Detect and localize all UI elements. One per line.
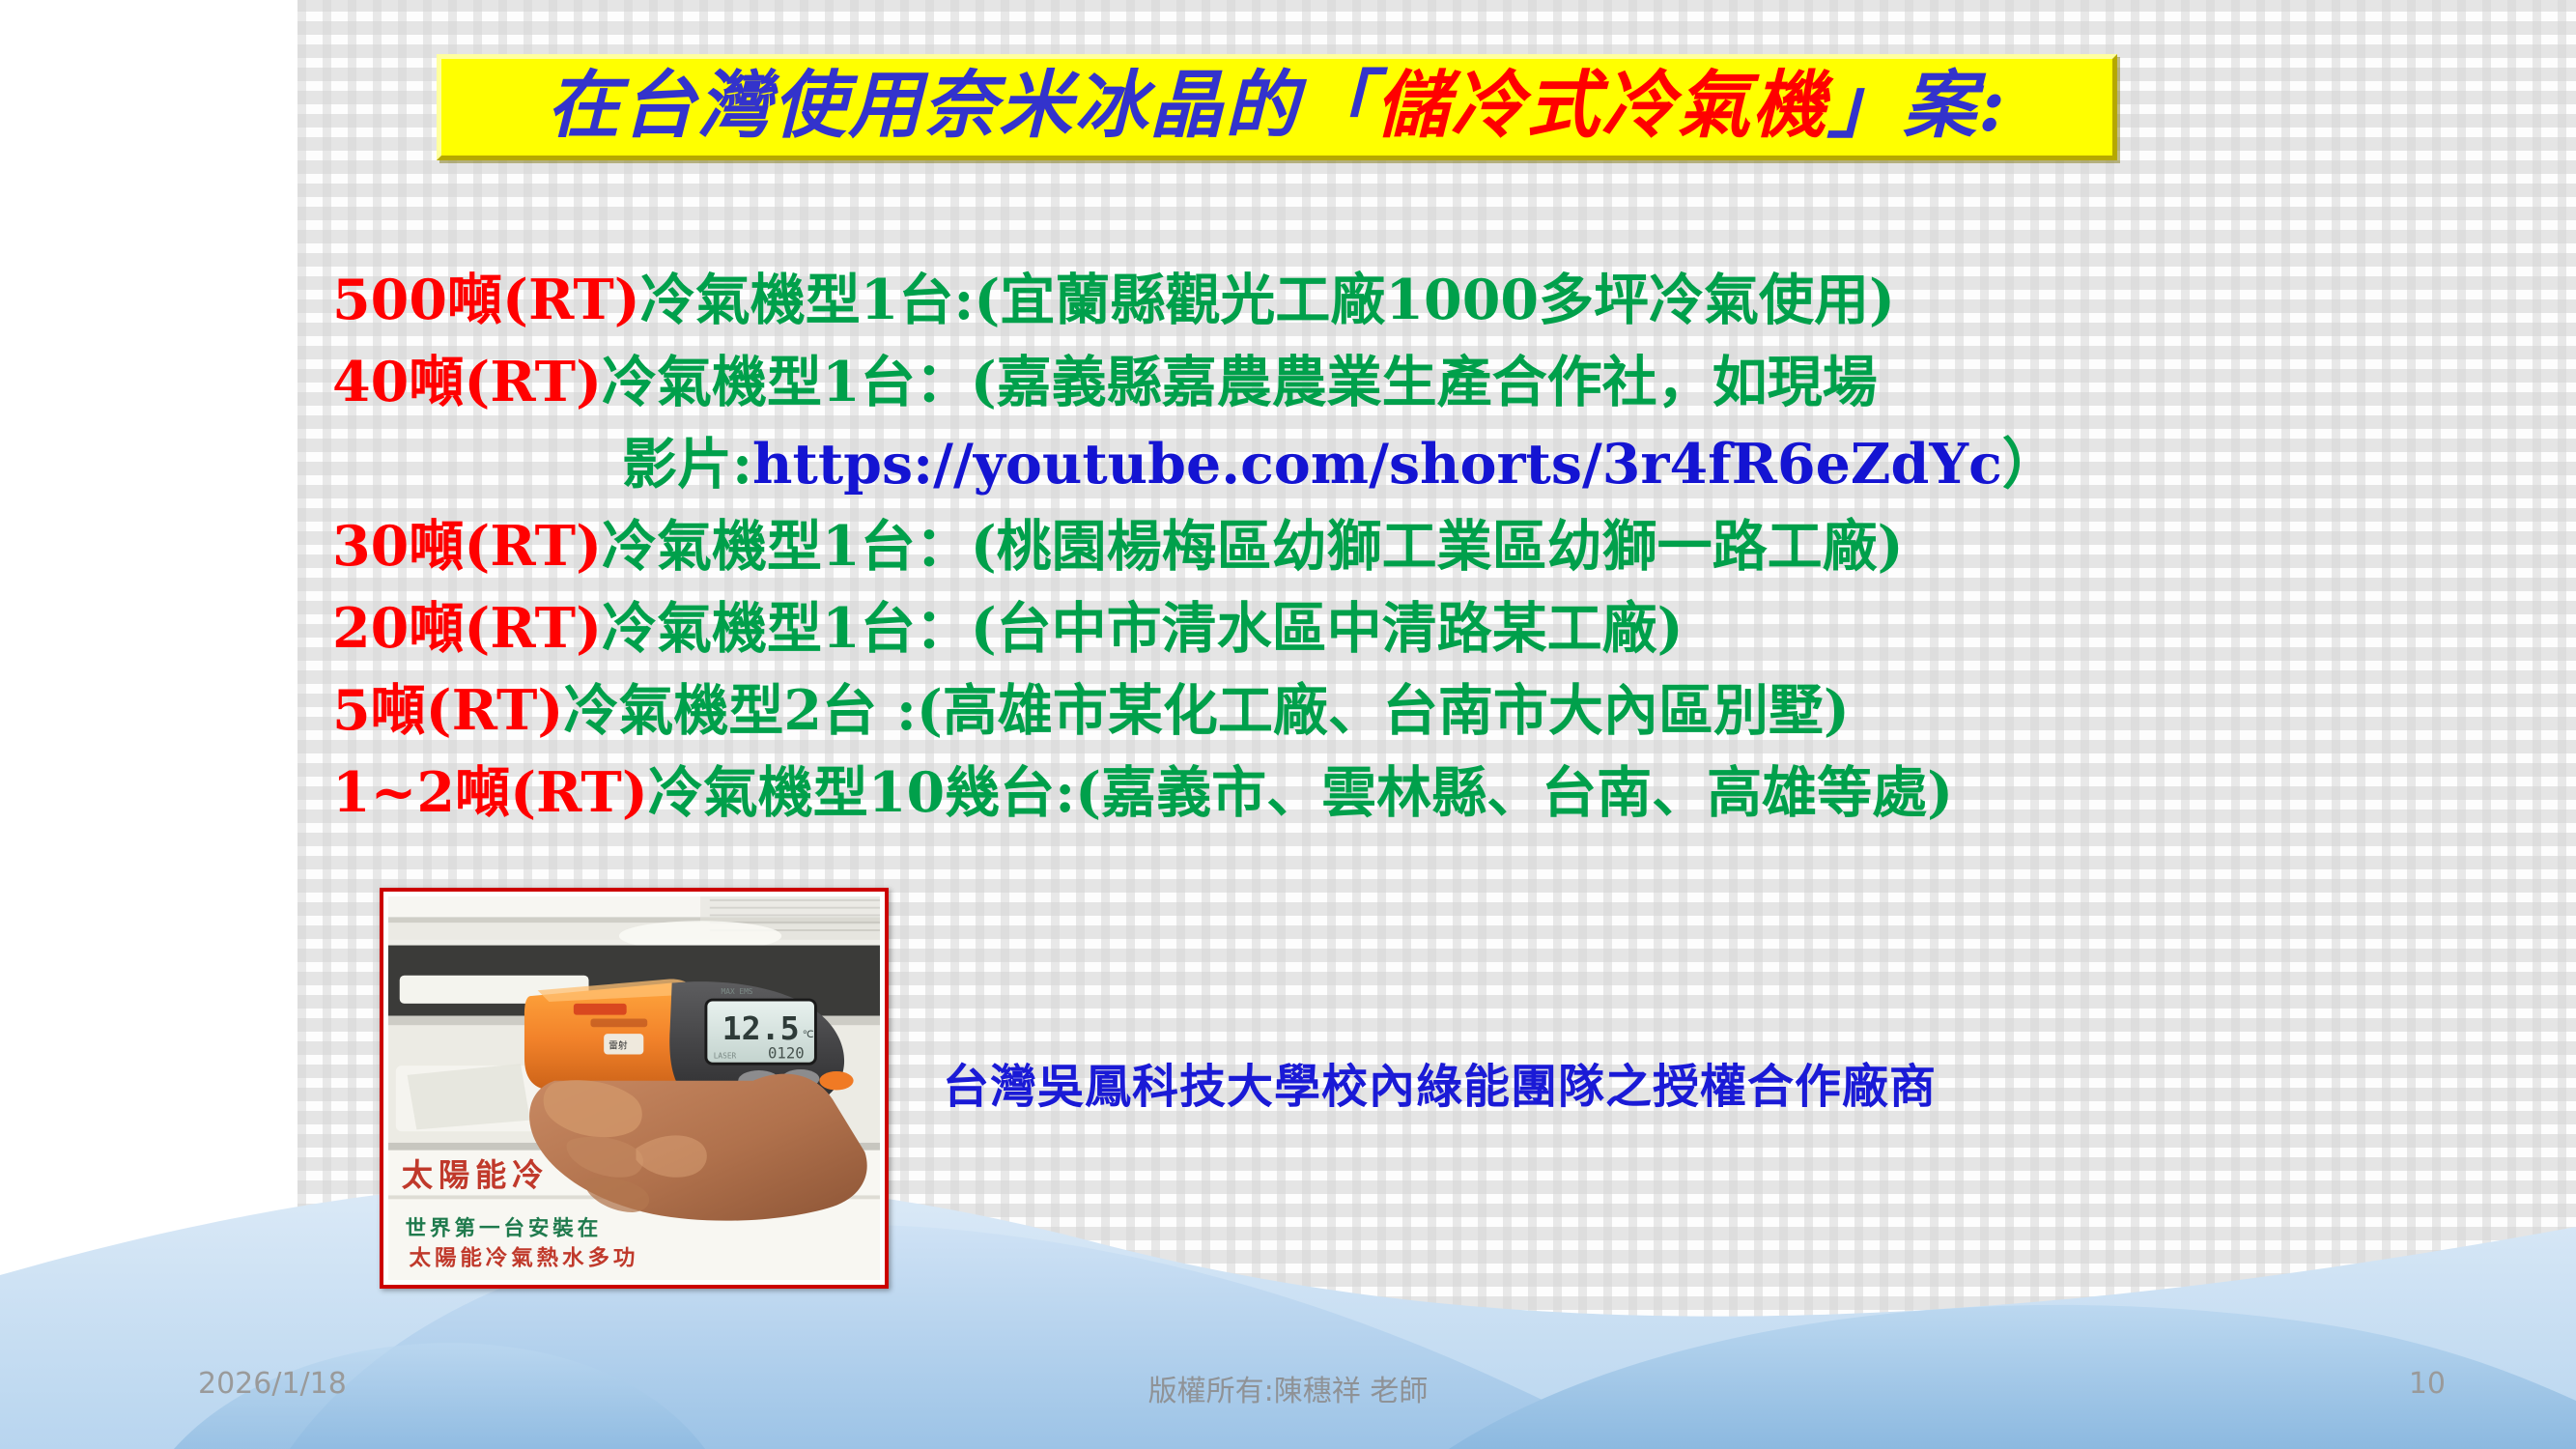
slide-canvas: 在台灣使用奈米冰晶的「儲冷式冷氣機」案: 500噸(RT)冷氣機型1台:(宜蘭縣… [0, 0, 2576, 1449]
svg-text:太陽能冷氣熱水多功: 太陽能冷氣熱水多功 [410, 1244, 639, 1270]
svg-text:LASER: LASER [714, 1051, 737, 1060]
body-line-5rt: 5噸(RT)冷氣機型2台 :(高雄市某化工廠、台南市大內區別墅) [332, 669, 2544, 752]
body-line-500rt: 500噸(RT)冷氣機型1台:(宜蘭縣觀光工廠1000多坪冷氣使用) [332, 259, 2544, 341]
body-text-block: 500噸(RT)冷氣機型1台:(宜蘭縣觀光工廠1000多坪冷氣使用) 40噸(R… [332, 259, 2544, 834]
partner-caption: 台灣吳鳳科技大學校內綠能團隊之授權合作廠商 [943, 1048, 1937, 1116]
svg-text:℃: ℃ [803, 1028, 814, 1040]
svg-text:雷射: 雷射 [609, 1039, 628, 1052]
body-line-20rt: 20噸(RT)冷氣機型1台：(台中市清水區中清路某工廠) [332, 587, 2544, 669]
location-text-5rt: 冷氣機型2台 :(高雄市某化工廠、台南市大內區別墅) [563, 678, 1849, 743]
capacity-label-5rt: 5噸(RT) [332, 678, 563, 743]
svg-text:太陽能冷: 太陽能冷 [402, 1157, 550, 1194]
location-text-1-2rt: 冷氣機型10幾台:(嘉義市、雲林縣、台南、高雄等處) [648, 760, 1953, 825]
location-text-30rt: 冷氣機型1台：(桃園楊梅區幼獅工業區幼獅一路工廠) [602, 514, 1904, 579]
slide-title-box: 在台灣使用奈米冰晶的「儲冷式冷氣機」案: [437, 54, 2117, 160]
thermometer-photo-frame: 太陽能冷 世界第一台安裝在 太陽能冷氣熱水多功 雷射 MAX EMS 12.5 [380, 888, 889, 1289]
thermometer-photo: 太陽能冷 世界第一台安裝在 太陽能冷氣熱水多功 雷射 MAX EMS 12.5 [388, 896, 880, 1280]
capacity-label-500rt: 500噸(RT) [332, 268, 640, 332]
svg-text:0120: 0120 [768, 1044, 805, 1062]
video-label: 影片: [622, 432, 752, 497]
capacity-label-20rt: 20噸(RT) [332, 596, 602, 661]
title-part-3: 」案: [1827, 62, 2007, 148]
capacity-label-30rt: 30噸(RT) [332, 514, 602, 579]
capacity-label-40rt: 40噸(RT) [332, 350, 602, 414]
capacity-label-1-2rt: 1~2噸(RT) [332, 760, 648, 825]
slide-title-text: 在台灣使用奈米冰晶的「儲冷式冷氣機」案: [547, 69, 2007, 142]
footer-copyright: 版權所有:陳穗祥 老師 [0, 1367, 2576, 1409]
body-line-40rt: 40噸(RT)冷氣機型1台：(嘉義縣嘉農農業生產合作社，如現場 [332, 341, 2544, 423]
location-text-40rt: 冷氣機型1台：(嘉義縣嘉農農業生產合作社，如現場 [602, 350, 1878, 414]
title-part-2: 儲冷式冷氣機 [1375, 62, 1827, 148]
body-line-video-url: 影片:https://youtube.com/shorts/3r4fR6eZdY… [332, 423, 2544, 505]
meter-reading-value: 12.5 [722, 1009, 800, 1047]
location-text-500rt: 冷氣機型1台:(宜蘭縣觀光工廠1000多坪冷氣使用) [640, 268, 1895, 332]
title-part-1: 在台灣使用奈米冰晶的「 [547, 62, 1375, 148]
body-line-1-2rt: 1~2噸(RT)冷氣機型10幾台:(嘉義市、雲林縣、台南、高雄等處) [332, 752, 2544, 834]
thermometer-photo-image: 太陽能冷 世界第一台安裝在 太陽能冷氣熱水多功 雷射 MAX EMS 12.5 [388, 896, 880, 1280]
closing-paren: ） [2002, 432, 2057, 497]
location-text-20rt: 冷氣機型1台：(台中市清水區中清路某工廠) [602, 596, 1684, 661]
svg-text:MAX EMS: MAX EMS [722, 987, 753, 996]
body-line-30rt: 30噸(RT)冷氣機型1台：(桃園楊梅區幼獅工業區幼獅一路工廠) [332, 505, 2544, 587]
youtube-link[interactable]: https://youtube.com/shorts/3r4fR6eZdYc [752, 432, 2002, 497]
svg-text:世界第一台安裝在: 世界第一台安裝在 [406, 1215, 603, 1240]
footer-page-number: 10 [2409, 1367, 2446, 1401]
